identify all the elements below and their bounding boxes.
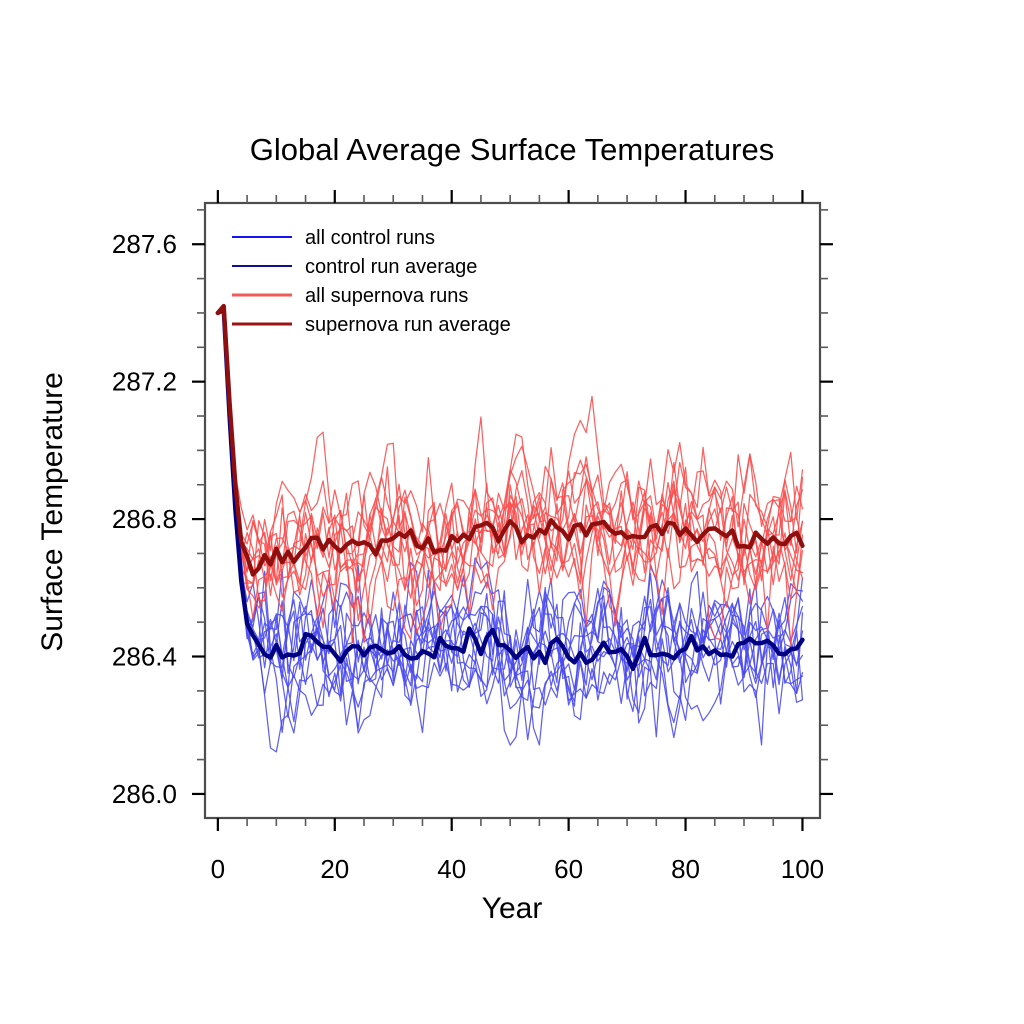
y-tick-label: 286.0 <box>112 779 177 809</box>
chart-title: Global Average Surface Temperatures <box>250 132 774 167</box>
chart-canvas: Global Average Surface Temperatures 0204… <box>0 0 1024 1024</box>
x-axis-label: Year <box>482 892 543 925</box>
y-tick-label: 287.6 <box>112 229 177 259</box>
x-tick-label: 0 <box>211 854 225 884</box>
x-tick-label: 100 <box>781 854 824 884</box>
y-tick-label: 286.8 <box>112 504 177 534</box>
x-tick-label: 80 <box>671 854 700 884</box>
y-axis-label: Surface Temperature <box>36 372 69 652</box>
legend-label: control run average <box>305 256 477 278</box>
legend-label: all supernova runs <box>305 285 468 307</box>
x-tick-label: 60 <box>554 854 583 884</box>
chart-figure: Global Average Surface Temperatures 0204… <box>0 0 1024 1024</box>
legend-label: supernova run average <box>305 314 511 336</box>
x-tick-label: 40 <box>437 854 466 884</box>
x-tick-label: 20 <box>320 854 349 884</box>
y-tick-label: 287.2 <box>112 367 177 397</box>
legend-label: all control runs <box>305 227 435 249</box>
y-tick-label: 286.4 <box>112 642 177 672</box>
